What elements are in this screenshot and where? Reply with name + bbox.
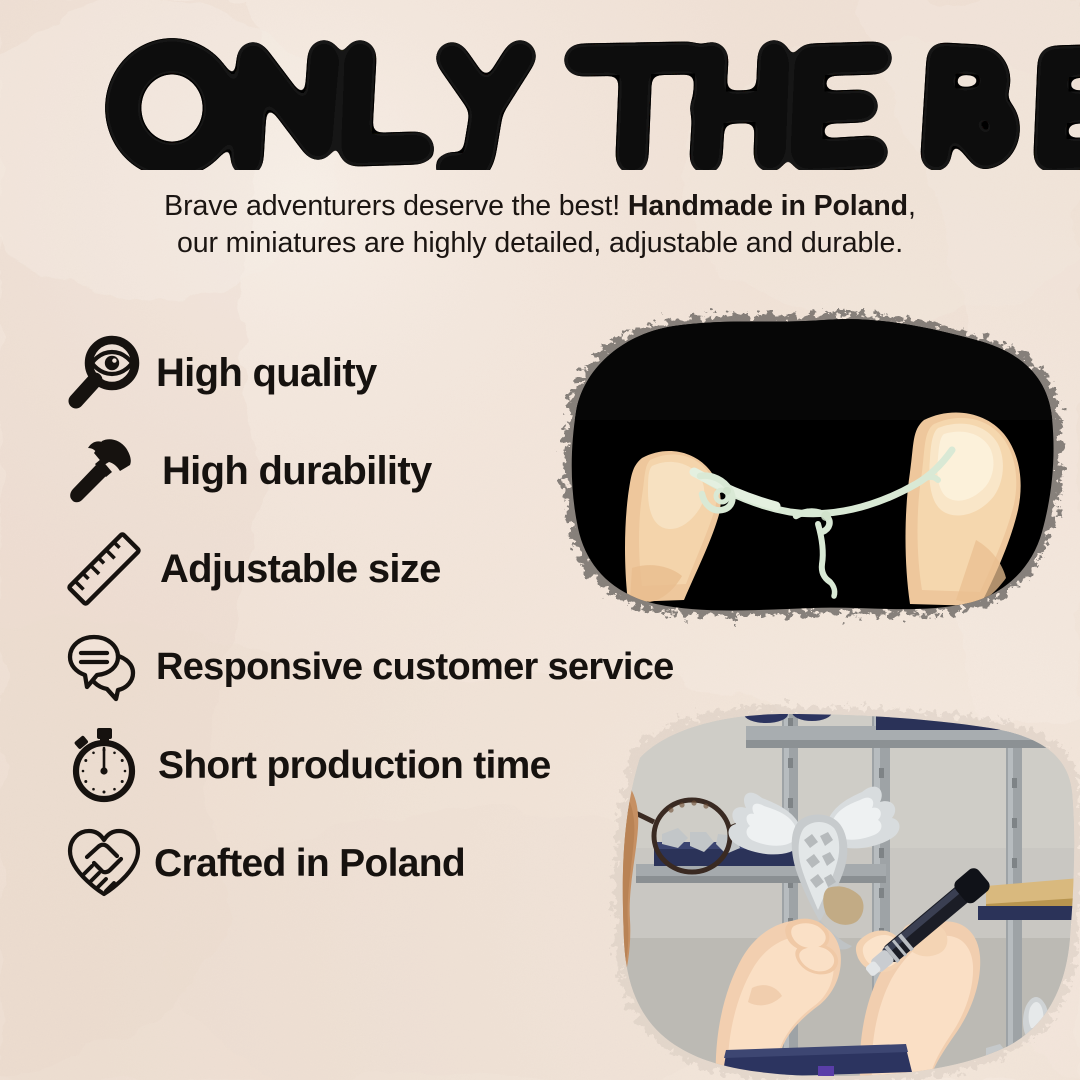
subtitle-post: , [908,190,916,222]
feature-label: Adjustable size [160,549,441,589]
feature-label: Responsive customer service [156,648,674,686]
workshop-painting-miniature-photo [576,688,1080,1080]
feature-label: High durability [162,451,432,491]
stopwatch-icon [62,723,146,807]
page-title: ONLY THE BEST [0,38,1080,170]
subtitle: Brave adventurers deserve the best! Hand… [0,188,1080,262]
banner-canvas: ONLY THE BEST Brave adventurers deserve … [0,0,1080,1080]
ruler-icon [62,527,146,611]
flexible-miniature-part-photo [524,300,1080,630]
magnifier-eye-icon [62,331,146,415]
heart-handshake-icon [62,821,146,905]
subtitle-line-2: our miniatures are highly detailed, adju… [0,225,1080,262]
feature-label: High quality [156,353,377,393]
feature-label: Short production time [158,746,551,785]
chat-bubbles-icon [62,625,146,709]
subtitle-line-1: Brave adventurers deserve the best! Hand… [0,188,1080,225]
feature-label: Crafted in Poland [154,844,465,883]
hammer-icon [62,429,146,513]
subtitle-bold: Handmade in Poland [628,190,908,222]
subtitle-pre: Brave adventurers deserve the best! [164,190,628,222]
